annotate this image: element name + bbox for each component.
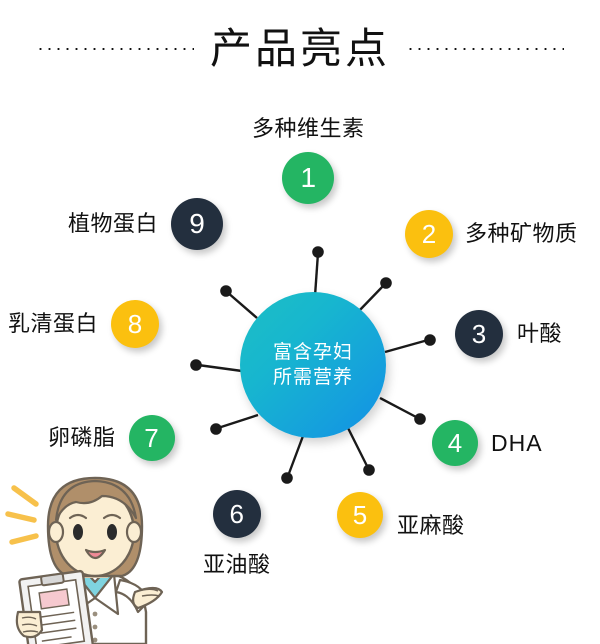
page-title: 产品亮点 [210, 28, 390, 70]
infographic-canvas: 产品亮点 [0, 0, 600, 644]
node-7[interactable]: 卵磷脂 7 [48, 415, 175, 461]
node-6[interactable]: 6 亚油酸 [203, 490, 271, 576]
node-2-label: 多种矿物质 [465, 223, 578, 245]
sparkle-icon [8, 488, 36, 542]
node-2[interactable]: 2 多种矿物质 [405, 210, 578, 258]
node-6-label: 亚油酸 [203, 554, 271, 576]
node-4[interactable]: 4 DHA [432, 420, 543, 466]
nutritionist-mascot-icon [2, 462, 172, 644]
node-7-label: 卵磷脂 [48, 427, 116, 449]
node-9[interactable]: 植物蛋白 9 [68, 198, 223, 250]
node-8[interactable]: 乳清蛋白 8 [8, 300, 159, 348]
node-1-badge[interactable]: 1 [282, 152, 334, 204]
node-5[interactable]: 5 亚麻酸 [337, 492, 465, 538]
node-1-label: 多种维生素 [252, 118, 365, 140]
node-5-badge[interactable]: 5 [337, 492, 383, 538]
node-9-badge[interactable]: 9 [171, 198, 223, 250]
node-4-badge[interactable]: 4 [432, 420, 478, 466]
node-3-label: 叶酸 [517, 323, 562, 345]
dotted-rule-right-icon [406, 48, 564, 50]
node-8-badge[interactable]: 8 [111, 300, 159, 348]
page-header: 产品亮点 [0, 14, 600, 84]
node-9-label: 植物蛋白 [68, 213, 158, 235]
node-3[interactable]: 3 叶酸 [455, 310, 562, 358]
node-8-label: 乳清蛋白 [8, 313, 98, 335]
node-1[interactable]: 多种维生素 1 [252, 118, 365, 204]
node-5-label: 亚麻酸 [397, 515, 465, 537]
dotted-rule-left-icon [36, 48, 194, 50]
node-2-badge[interactable]: 2 [405, 210, 453, 258]
node-6-badge[interactable]: 6 [213, 490, 261, 538]
hub-line-2: 所需营养 [273, 365, 353, 390]
hub-line-1: 富含孕妇 [273, 340, 353, 365]
node-7-badge[interactable]: 7 [129, 415, 175, 461]
node-4-label: DHA [491, 432, 543, 455]
node-3-badge[interactable]: 3 [455, 310, 503, 358]
center-hub: 富含孕妇 所需营养 [240, 292, 386, 438]
